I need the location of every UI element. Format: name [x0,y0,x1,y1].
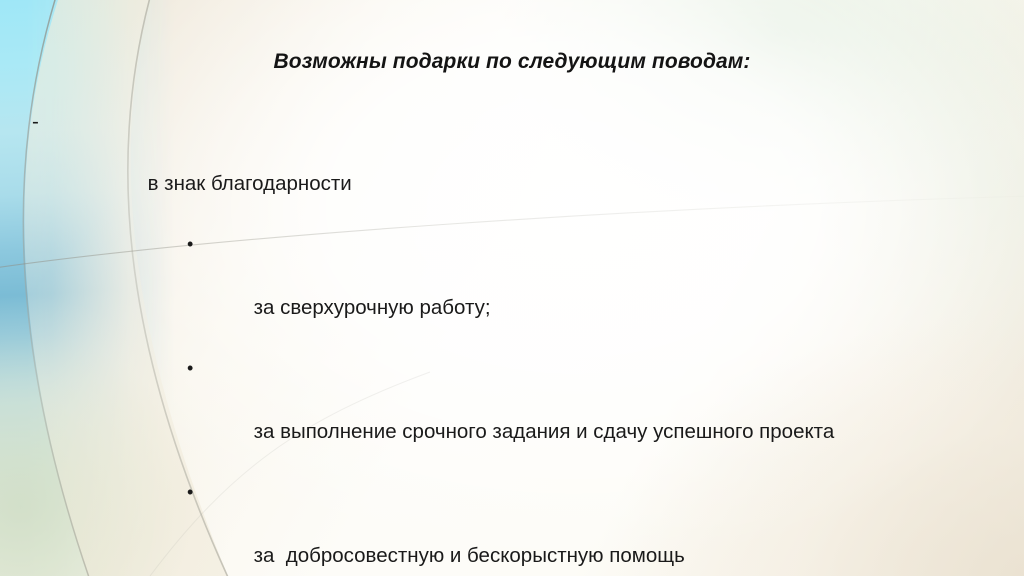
presentation-slide: Возможны подарки по следующим поводам: -… [0,0,1024,576]
slide-content: Возможны подарки по следующим поводам: -… [0,0,1024,576]
list-item: • за добросовестную и бескорыстную помощ… [30,478,984,576]
bullet-marker: • [187,477,193,508]
list-item: • за сверхурочную работу; [30,230,984,354]
bullet-marker: • [187,229,193,260]
list-item-text: за сверхурочную работу; [254,296,491,319]
list-item: • за выполнение срочного задания и сдачу… [30,354,984,478]
list-item: - в знак благодарности [30,106,984,230]
dash-marker: - [32,106,39,137]
list-item-text: за добросовестную и бескорыстную помощь [254,544,685,567]
slide-body: - в знак благодарности • за сверхурочную… [30,106,984,576]
list-item-text: за выполнение срочного задания и сдачу у… [254,420,835,443]
bullet-marker: • [187,353,193,384]
slide-title: Возможны подарки по следующим поводам: [0,50,1024,74]
list-item-text: в знак благодарности [148,172,352,195]
